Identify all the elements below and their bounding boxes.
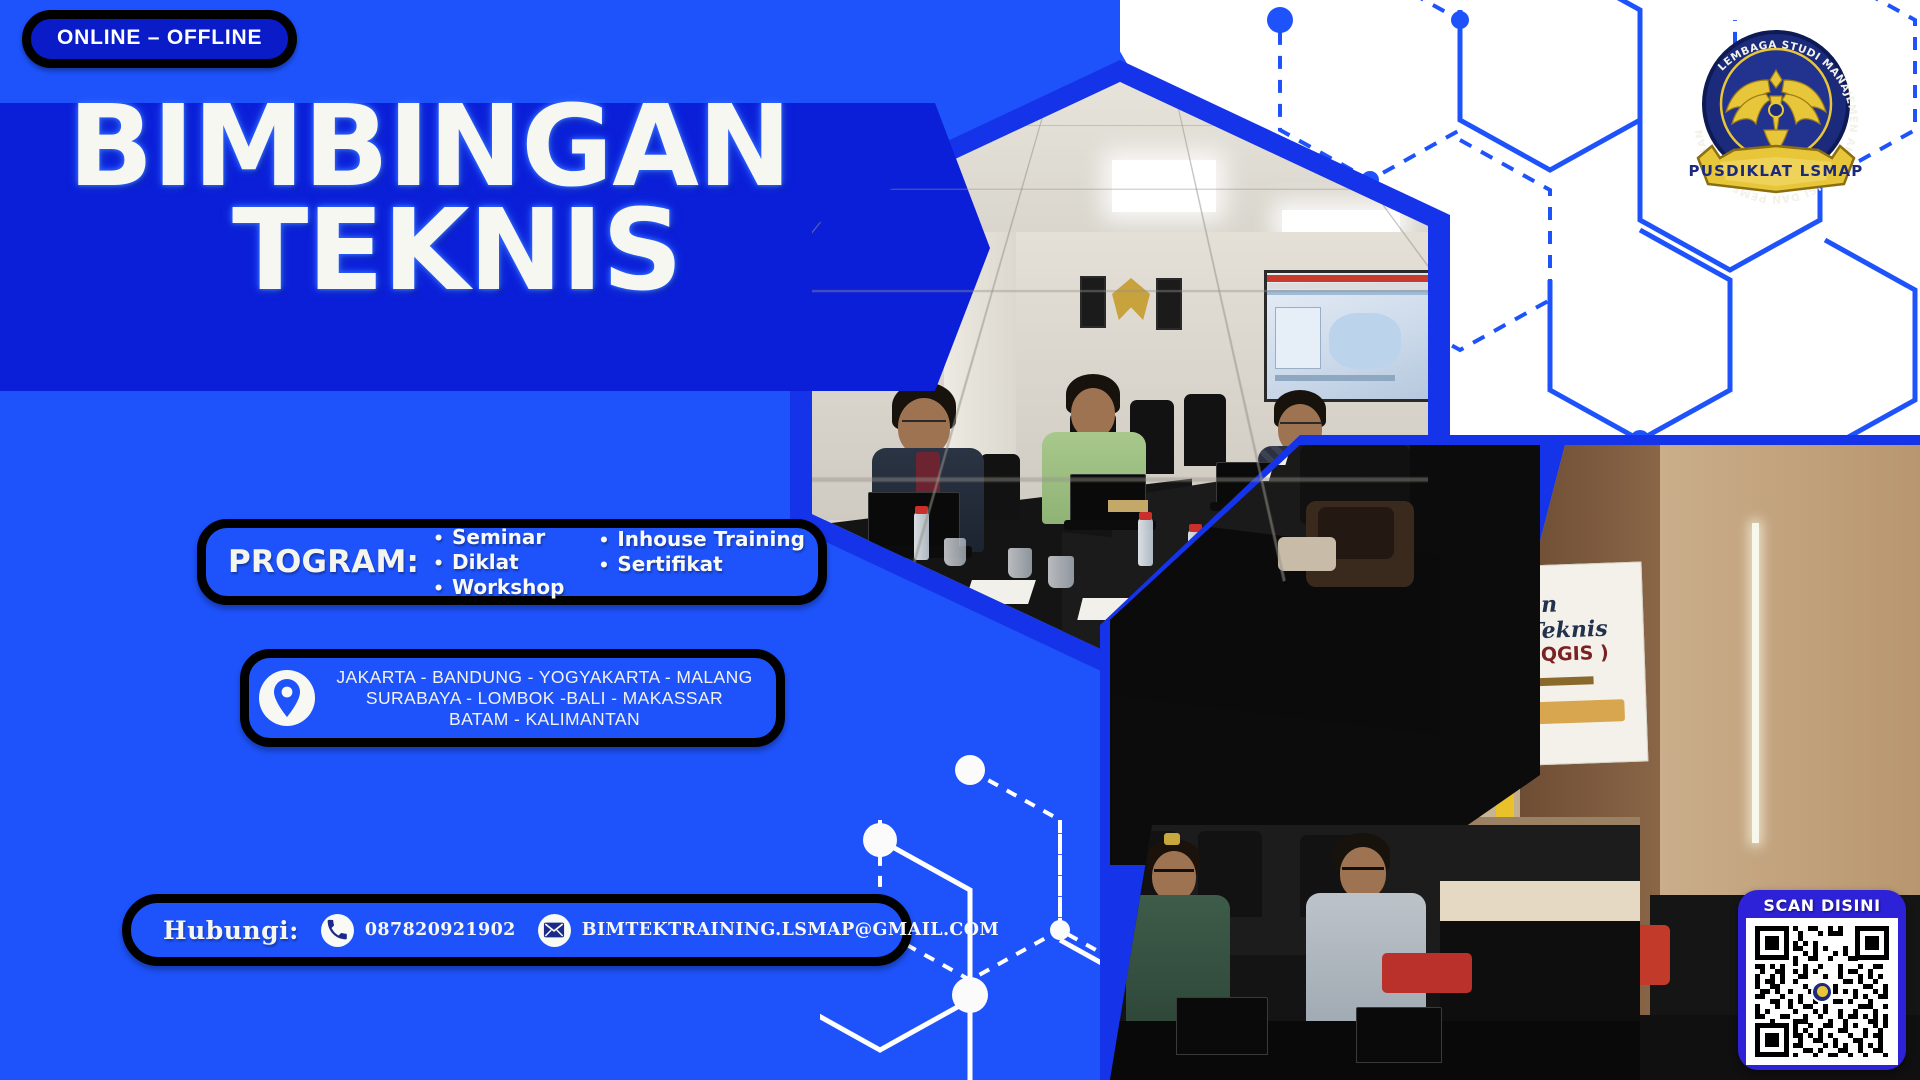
program-item: Inhouse Training xyxy=(598,527,805,551)
online-offline-badge: ONLINE – OFFLINE xyxy=(22,10,297,68)
contact-phone[interactable]: 087820921902 xyxy=(321,914,516,947)
email-address: BIMTEKTRAINING.LSMAP@GMAIL.COM xyxy=(582,920,999,940)
qr-card[interactable]: SCAN DISINI xyxy=(1738,890,1906,1070)
locations-box: JAKARTA - BANDUNG - YOGYAKARTA - MALANG … xyxy=(240,649,785,747)
program-item: Seminar xyxy=(433,525,564,549)
location-line: BATAM - KALIMANTAN xyxy=(329,709,760,730)
program-column-2: Inhouse Training Sertifikat xyxy=(598,525,805,599)
location-line: JAKARTA - BANDUNG - YOGYAKARTA - MALANG xyxy=(329,667,760,688)
qr-title: SCAN DISINI xyxy=(1746,896,1898,916)
location-line: SURABAYA - LOMBOK -BALI - MAKASSAR xyxy=(329,688,760,709)
contact-email[interactable]: BIMTEKTRAINING.LSMAP@GMAIL.COM xyxy=(538,914,999,947)
qr-code[interactable] xyxy=(1746,918,1898,1065)
right-photo-participants-bottom xyxy=(1110,825,1640,1080)
program-item: Workshop xyxy=(433,575,564,599)
program-item: Sertifikat xyxy=(598,552,805,576)
contact-box: Hubungi: 087820921902 BIMTEKTRA xyxy=(122,894,912,966)
photo-banner-line1: an Teknis xyxy=(1526,589,1643,645)
phone-number: 087820921902 xyxy=(365,920,516,940)
location-pin-icon xyxy=(259,670,315,726)
qr-center-logo xyxy=(1811,981,1833,1003)
svg-text:PUSDIKLAT LSMAP: PUSDIKLAT LSMAP xyxy=(1689,162,1864,180)
title-line-2: TEKNIS xyxy=(0,199,990,303)
phone-icon xyxy=(321,914,354,947)
program-label: PROGRAM: xyxy=(228,544,419,580)
program-column-1: Seminar Diklat Workshop xyxy=(433,525,564,599)
poster-canvas: an Teknis GIS ( QGIS ) xyxy=(0,0,1920,1080)
email-icon xyxy=(538,914,571,947)
title-line-1: BIMBINGAN xyxy=(0,95,990,199)
program-box: PROGRAM: Seminar Diklat Workshop Inhouse… xyxy=(197,519,827,605)
program-item: Diklat xyxy=(433,550,564,574)
contact-label: Hubungi: xyxy=(163,916,299,945)
pusdiklat-lsmap-logo: LEMBAGA STUDI MANAJEMEN AKUNTANSI DAN PE… xyxy=(1676,18,1876,208)
page-title: BIMBINGAN TEKNIS xyxy=(0,95,990,303)
